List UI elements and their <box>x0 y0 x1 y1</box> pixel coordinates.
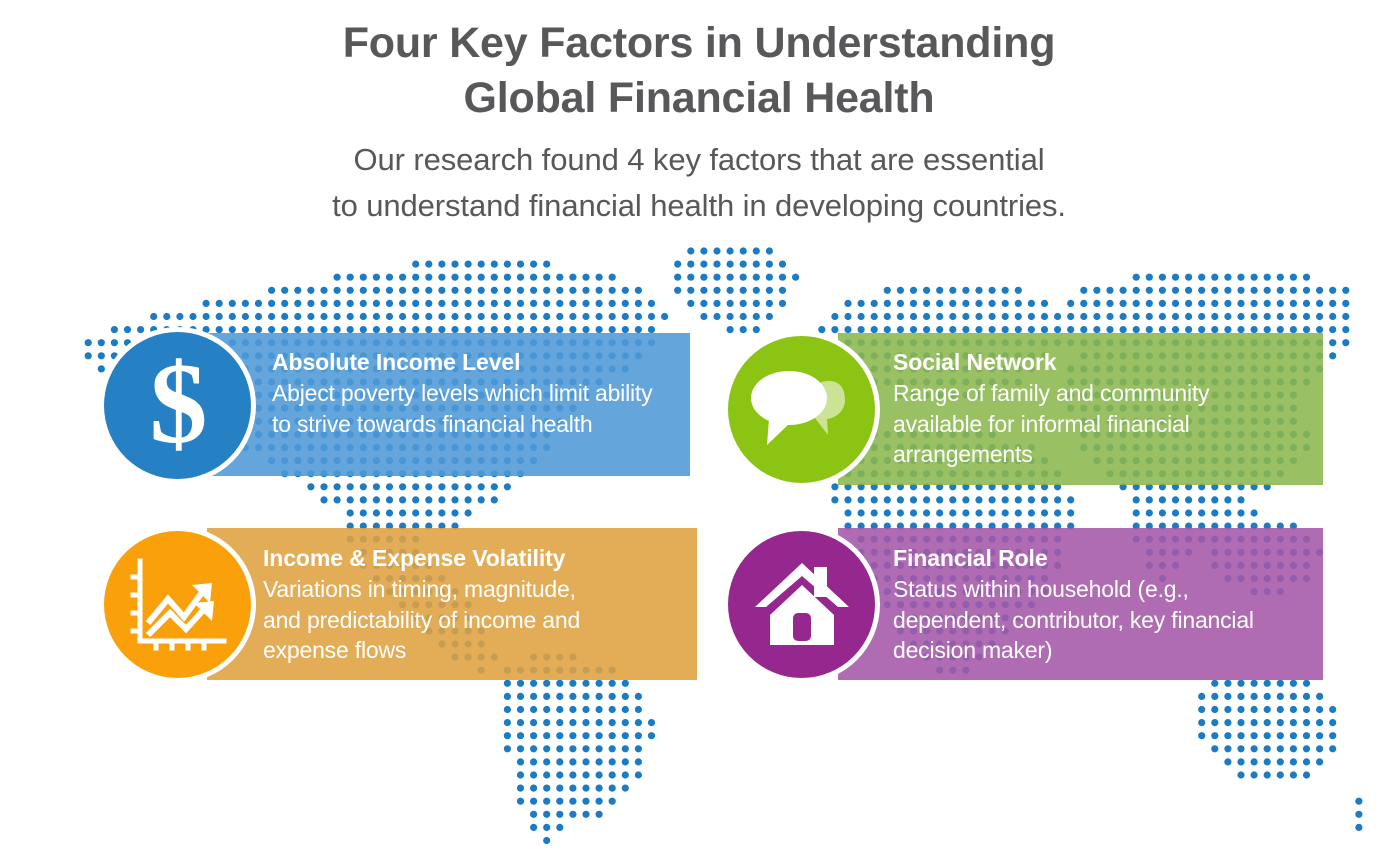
dollar-sign-glyph: $ <box>150 346 206 462</box>
factor-card-title: Financial Role <box>893 544 1313 573</box>
factor-card-description-line-2: available for informal financial <box>893 409 1313 440</box>
factor-card-description: Status within household (e.g., dependent… <box>893 573 1313 666</box>
factor-card-description: Abject poverty levels which limit abilit… <box>272 377 702 439</box>
factor-card-title: Income & Expense Volatility <box>263 544 693 573</box>
factor-card-text-financial-role: Financial Role Status within household (… <box>893 544 1313 666</box>
factor-card-description-line-1: Status within household (e.g., <box>893 574 1313 605</box>
factor-icon-wrap-social-network <box>723 331 880 488</box>
factor-card-description-line-1: Variations in timing, magnitude, <box>263 574 693 605</box>
factor-card-description-line-3: decision maker) <box>893 635 1313 666</box>
factor-card-description: Range of family and community available … <box>893 377 1313 470</box>
factor-card-description-line-1: Range of family and community <box>893 378 1313 409</box>
factor-icon-wrap-financial-role <box>723 526 880 683</box>
house-icon <box>728 531 875 678</box>
factor-card-description: Variations in timing, magnitude, and pre… <box>263 573 693 666</box>
infographic-canvas: Four Key Factors in Understanding Global… <box>0 0 1398 865</box>
line-chart-glyph <box>128 557 228 653</box>
factor-card-text-social-network: Social Network Range of family and commu… <box>893 348 1313 470</box>
house-glyph <box>752 559 852 651</box>
factor-card-text-income-expense-volatility: Income & Expense Volatility Variations i… <box>263 544 693 666</box>
factor-card-description-line-3: arrangements <box>893 439 1313 470</box>
factor-icon-wrap-absolute-income-level: $ <box>99 327 256 484</box>
dollar-sign-icon: $ <box>104 332 251 479</box>
factor-card-title: Social Network <box>893 348 1313 377</box>
page-title: Four Key Factors in Understanding Global… <box>0 0 1398 125</box>
speech-bubbles-glyph <box>747 365 857 455</box>
factor-card-text-absolute-income-level: Absolute Income Level Abject poverty lev… <box>272 348 702 439</box>
speech-bubbles-icon <box>728 336 875 483</box>
header: Four Key Factors in Understanding Global… <box>0 0 1398 229</box>
page-subtitle-line-2: to understand financial health in develo… <box>0 183 1398 229</box>
factor-card-title: Absolute Income Level <box>272 348 702 377</box>
line-chart-icon <box>104 531 251 678</box>
factor-card-description-line-1: Abject poverty levels which limit abilit… <box>272 378 702 409</box>
factor-card-description-line-2: dependent, contributor, key financial <box>893 605 1313 636</box>
factor-card-description-line-2: and predictability of income and <box>263 605 693 636</box>
page-title-line-2: Global Financial Health <box>0 71 1398 126</box>
factor-card-description-line-3: expense flows <box>263 635 693 666</box>
page-subtitle: Our research found 4 key factors that ar… <box>0 125 1398 229</box>
factor-card-description-line-2: to strive towards financial health <box>272 409 702 440</box>
page-title-line-1: Four Key Factors in Understanding <box>0 16 1398 71</box>
factor-icon-wrap-income-expense-volatility <box>99 526 256 683</box>
page-subtitle-line-1: Our research found 4 key factors that ar… <box>0 137 1398 183</box>
